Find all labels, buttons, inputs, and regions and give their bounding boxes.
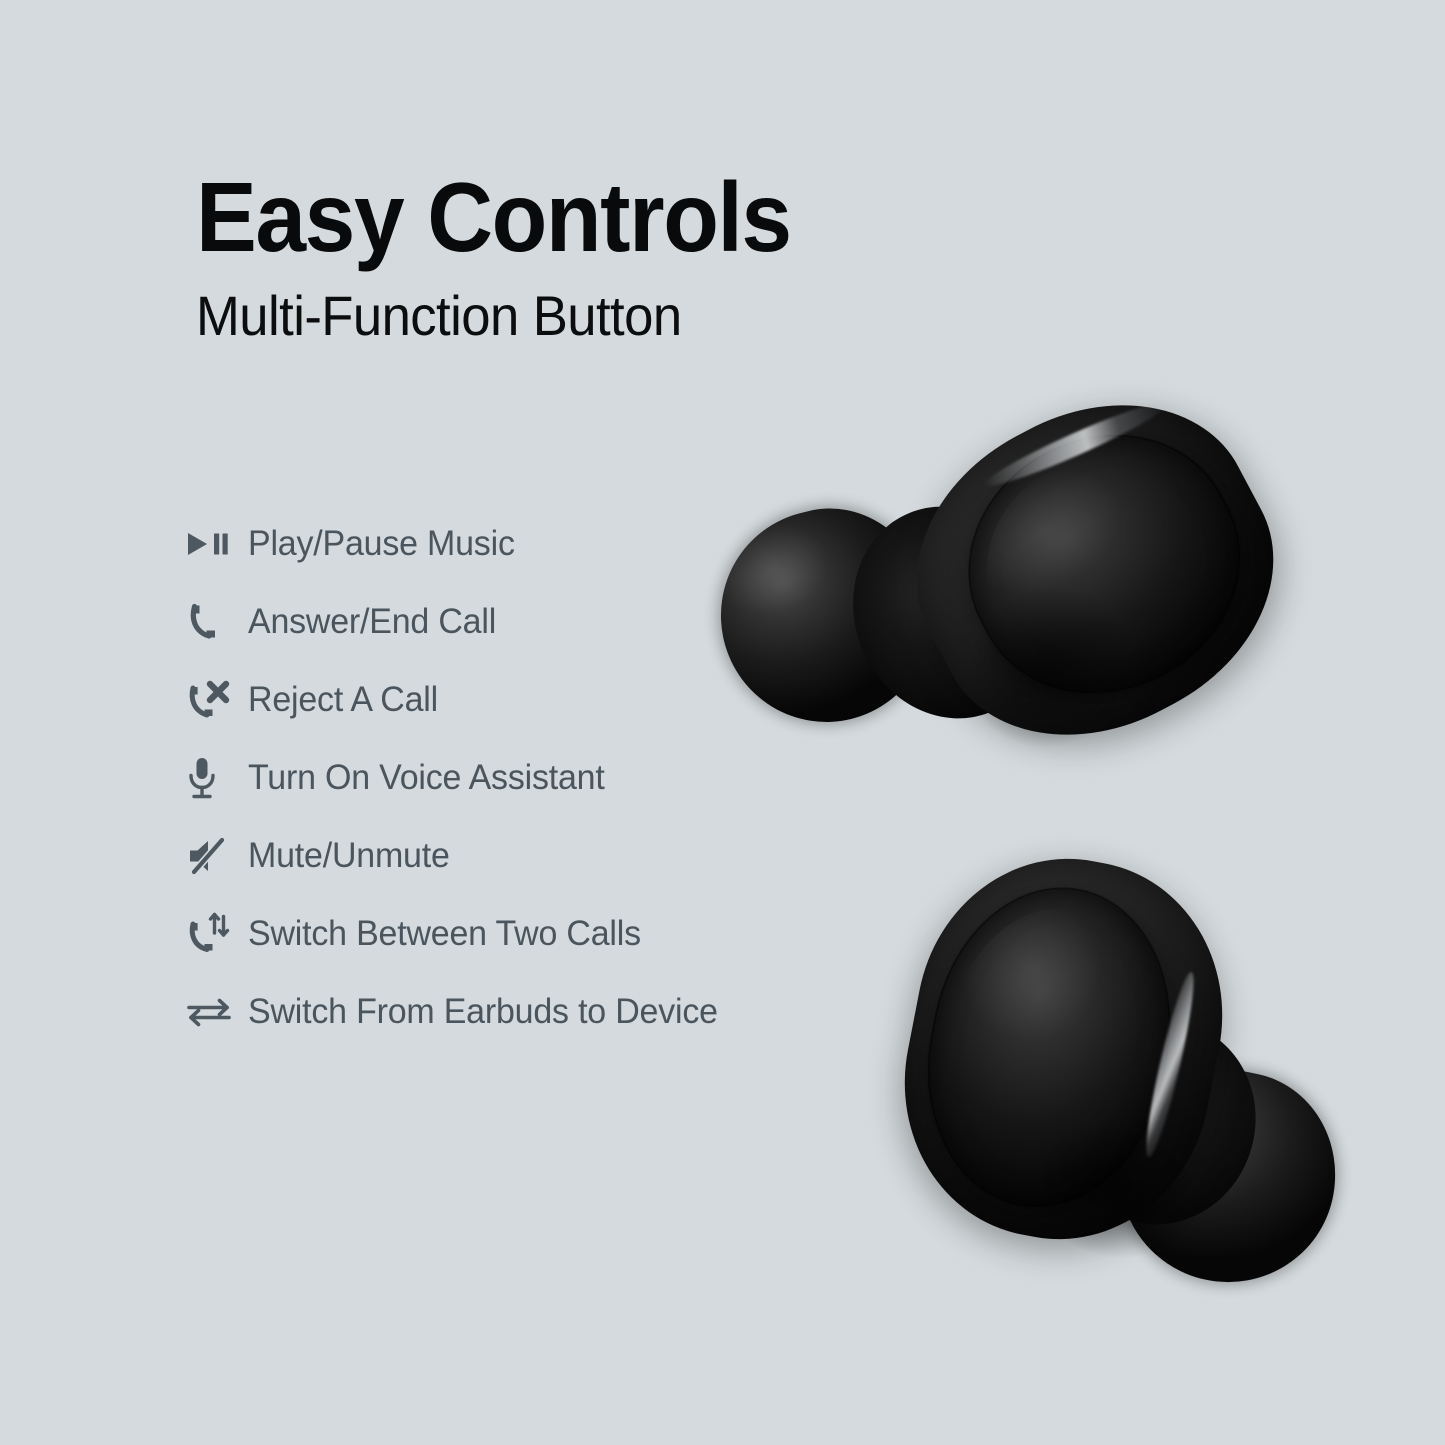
phone-icon [186, 597, 248, 647]
list-item: Switch From Earbuds to Device [186, 973, 846, 1051]
list-item-label: Mute/Unmute [248, 836, 450, 876]
list-item-label: Switch Between Two Calls [248, 914, 641, 954]
page-title: Easy Controls [196, 168, 1033, 266]
earbud-bottom [905, 855, 1365, 1315]
phone-switch-icon [186, 909, 248, 959]
list-item-label: Play/Pause Music [248, 524, 515, 564]
earbud-body [878, 833, 1250, 1264]
microphone-icon [186, 753, 248, 803]
earbud-top [715, 405, 1275, 755]
page-subtitle: Multi-Function Button [196, 288, 1042, 344]
play-pause-icon [186, 519, 248, 569]
list-item-label: Reject A Call [248, 680, 438, 720]
list-item-label: Switch From Earbuds to Device [248, 992, 718, 1032]
list-item: Switch Between Two Calls [186, 895, 846, 973]
list-item: Mute/Unmute [186, 817, 846, 895]
earbud-body [868, 351, 1323, 789]
promo-image: Easy Controls Multi-Function Button Play… [0, 0, 1445, 1445]
phone-reject-icon [186, 675, 248, 725]
speaker-mute-icon [186, 831, 248, 881]
heading-block: Easy Controls Multi-Function Button [196, 168, 1096, 344]
list-item-label: Answer/End Call [248, 602, 496, 642]
list-item-label: Turn On Voice Assistant [248, 758, 605, 798]
swap-arrows-icon [186, 987, 248, 1037]
